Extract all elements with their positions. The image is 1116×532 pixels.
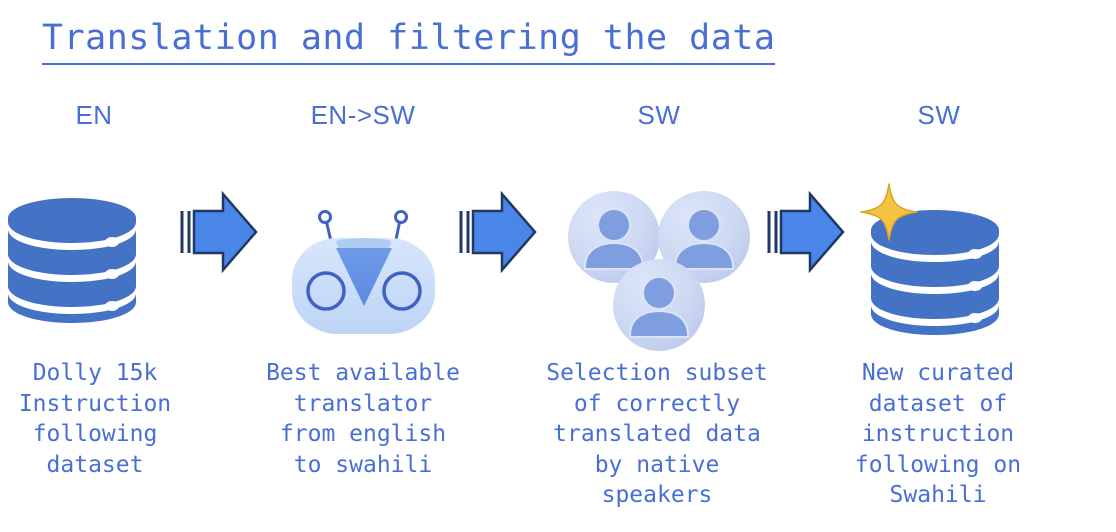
- avatar: [613, 259, 705, 351]
- stage-3-caption: Selection subset of correctly translated…: [527, 358, 787, 511]
- stage-4-caption: New curated dataset of instruction follo…: [808, 358, 1068, 511]
- stage-3-language-label: SW: [542, 100, 772, 134]
- arrow-2: [457, 191, 537, 277]
- arrow-1: [178, 191, 258, 277]
- stage-4-language-label: SW: [823, 100, 1053, 134]
- stage-4-artwork: [823, 134, 1053, 349]
- pipeline-diagram: EN EN->SW: [0, 0, 1116, 532]
- pipeline-stage-4: SW: [823, 100, 1053, 349]
- pipeline-stage-2: EN->SW: [248, 100, 478, 349]
- people-group-icon: [566, 189, 756, 358]
- database-sparkle-icon: [851, 182, 1011, 341]
- pipeline-stage-3: SW: [542, 100, 772, 349]
- stage-2-artwork: [248, 134, 478, 349]
- arrow-3: [765, 191, 845, 277]
- database-icon: [2, 192, 142, 331]
- stage-1-caption: Dolly 15k Instruction following dataset: [0, 358, 225, 480]
- stage-1-language-label: EN: [0, 100, 210, 134]
- stage-2-caption: Best available translator from english t…: [233, 358, 493, 480]
- stage-2-language-label: EN->SW: [248, 100, 478, 134]
- stage-3-artwork: [542, 134, 772, 349]
- robot-icon: [284, 198, 444, 342]
